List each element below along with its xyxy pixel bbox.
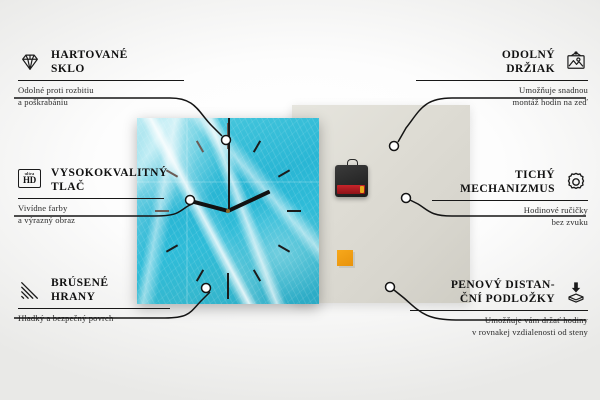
feature-header: PENOVÝ DISTAN- ČNÍ PODLOŽKY — [398, 278, 588, 307]
feature-tempered-glass: HARTOVANÉ SKLO Odolné proti rozbitiu a p… — [18, 48, 208, 109]
press-down-pad-icon — [564, 281, 588, 303]
diamond-icon — [18, 51, 42, 73]
feature-description: Hladký a bezpečný povrch — [18, 313, 208, 325]
hd-label: HD — [23, 176, 36, 185]
divider — [18, 80, 184, 81]
feature-title: BRÚSENÉ HRANY — [51, 276, 108, 305]
battery — [337, 185, 365, 194]
feature-foam-spacer-pads: PENOVÝ DISTAN- ČNÍ PODLOŽKY Umožňuje vám… — [398, 278, 588, 339]
feature-title: TICHÝ MECHANIZMUS — [460, 168, 555, 197]
feature-title: PENOVÝ DISTAN- ČNÍ PODLOŽKY — [451, 278, 555, 307]
second-hand — [228, 118, 230, 211]
feature-high-quality-print: ultra HD VYSOKOKVALITNÝ TLAČ Vivídne far… — [18, 166, 208, 227]
gear-icon — [564, 171, 588, 193]
feature-ground-edges: BRÚSENÉ HRANY Hladký a bezpečný povrch — [18, 276, 208, 325]
feature-title: ODOLNÝ DRŽIAK — [502, 48, 555, 77]
feature-header: TICHÝ MECHANIZMUS — [398, 168, 588, 197]
feature-description: Hodinové ručičky bez zvuku — [398, 205, 588, 229]
feature-header: HARTOVANÉ SKLO — [18, 48, 208, 77]
feature-title: VYSOKOKVALITNÝ TLAČ — [51, 166, 168, 195]
feature-description: Umožňuje vám držať hodiny v rovnakej vzd… — [398, 315, 588, 339]
minute-hand — [227, 190, 270, 213]
clock-mechanism — [335, 165, 368, 197]
divider — [18, 308, 170, 309]
feature-description: Odolné proti rozbitiu a poškrabániu — [18, 85, 208, 109]
divider — [416, 80, 588, 81]
feature-description: Umožňuje snadnou montáž hodin na zeď — [398, 85, 588, 109]
infographic-canvas: HARTOVANÉ SKLO Odolné proti rozbitiu a p… — [0, 0, 600, 400]
hanging-picture-icon — [564, 51, 588, 73]
divider — [18, 198, 164, 199]
divider — [432, 200, 588, 201]
feature-title: HARTOVANÉ SKLO — [51, 48, 128, 77]
foam-distance-pad — [337, 250, 353, 266]
feature-header: BRÚSENÉ HRANY — [18, 276, 208, 305]
feature-header: ultra HD VYSOKOKVALITNÝ TLAČ — [18, 166, 208, 195]
feature-description: Vivídne farby a výrazný obraz — [18, 203, 208, 227]
hatched-edge-icon — [18, 279, 42, 301]
feature-header: ODOLNÝ DRŽIAK — [398, 48, 588, 77]
feature-durable-holder: ODOLNÝ DRŽIAK Umožňuje snadnou montáž ho… — [398, 48, 588, 109]
clock-center-pin — [226, 209, 230, 213]
ultra-hd-icon: ultra HD — [18, 169, 42, 191]
feature-silent-mechanism: TICHÝ MECHANIZMUS Hodinové ručičky bez z… — [398, 168, 588, 229]
divider — [410, 310, 588, 311]
